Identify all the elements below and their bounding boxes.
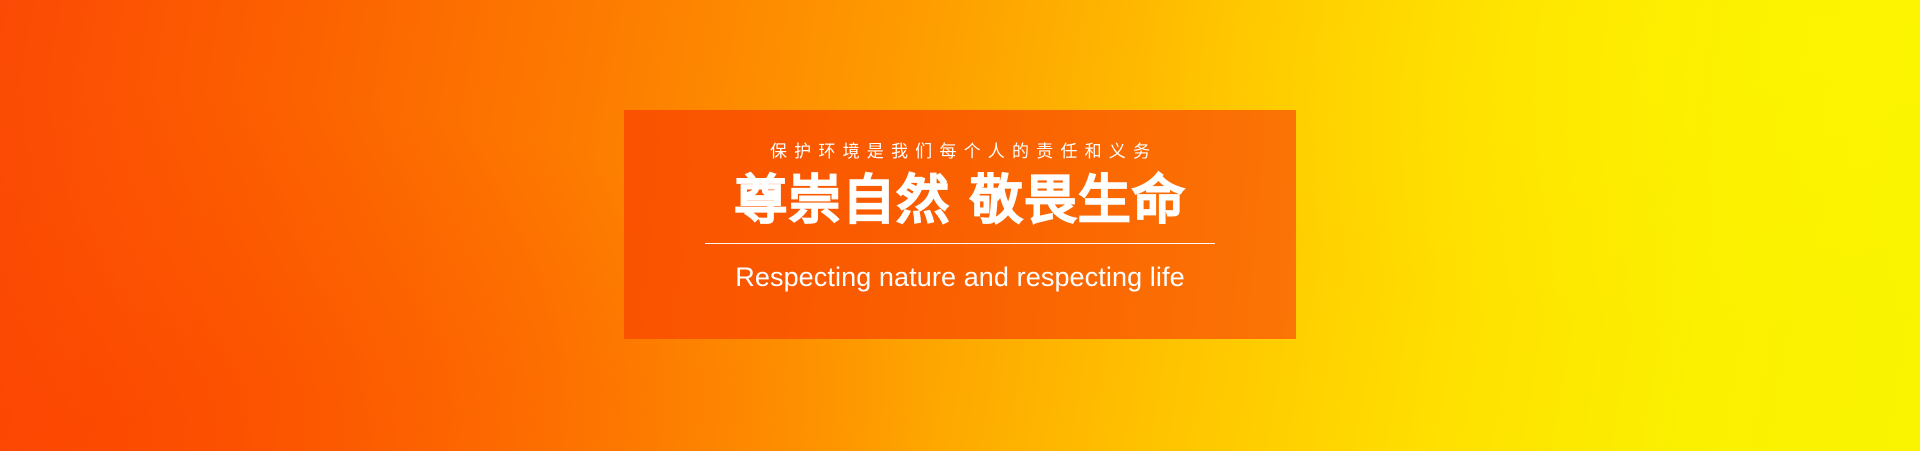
banner-content-panel: 保护环境是我们每个人的责任和义务 尊崇自然 敬畏生命 Respecting na… (624, 110, 1296, 339)
banner-tagline-english: Respecting nature and respecting life (735, 264, 1184, 291)
banner-subtitle-chinese: 保护环境是我们每个人的责任和义务 (763, 144, 1157, 161)
banner-headline-chinese: 尊崇自然 敬畏生命 (734, 173, 1185, 229)
environmental-banner: 保护环境是我们每个人的责任和义务 尊崇自然 敬畏生命 Respecting na… (0, 0, 1920, 451)
banner-divider (705, 243, 1215, 244)
